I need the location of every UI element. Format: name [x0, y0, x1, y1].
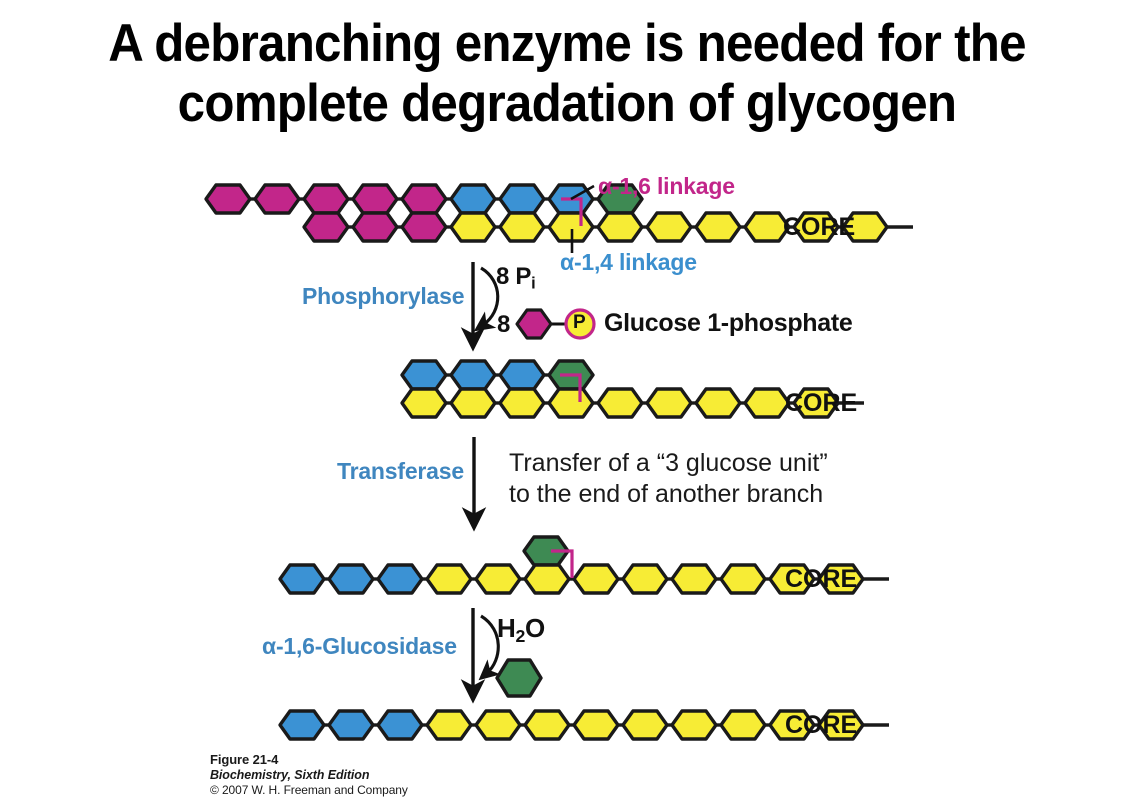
glucose-residue-yellow	[696, 213, 740, 241]
core-label-stage-3: CORE	[785, 565, 857, 594]
glucose-residue-yellow	[598, 213, 642, 241]
alpha-1-6-linkage-label: α-1,6 linkage	[598, 173, 735, 200]
alpha-1-4-linkage-label: α-1,4 linkage	[560, 249, 697, 276]
glucose-residue-yellow	[623, 711, 667, 739]
glucose-residue-magenta	[255, 185, 299, 213]
figure-copyright: © 2007 W. H. Freeman and Company	[210, 783, 408, 797]
slide-canvas: A debranching enzyme is needed for the c…	[0, 0, 1134, 800]
core-label-stage-1: CORE	[783, 213, 855, 242]
glucose-residue-yellow	[476, 711, 520, 739]
transferase-label: Transferase	[337, 458, 464, 485]
glucose-residue-yellow	[647, 213, 691, 241]
glucose-residue-yellow	[696, 389, 740, 417]
glucose-residue-blue	[378, 565, 422, 593]
glucose-residue-yellow	[500, 213, 544, 241]
glucose-residue-magenta	[304, 213, 348, 241]
figure-source: Biochemistry, Sixth Edition	[210, 768, 408, 782]
glucose-residue-blue	[500, 361, 544, 389]
glucose-residue-magenta	[206, 185, 250, 213]
glucose-residue-yellow	[476, 565, 520, 593]
transfer-description: Transfer of a “3 glucose unit” to the en…	[509, 448, 828, 509]
glycogen-degradation-diagram	[0, 0, 1134, 800]
figure-caption: Figure 21-4 Biochemistry, Sixth Edition …	[210, 752, 408, 797]
glucose-residue-yellow	[402, 389, 446, 417]
glucose-residue-yellow	[525, 711, 569, 739]
water-label: H2O	[497, 613, 545, 647]
water-subscript: 2	[515, 626, 525, 646]
glucose-residue-blue	[378, 711, 422, 739]
glucose-residue-blue	[329, 711, 373, 739]
pi-count: 8 P	[496, 263, 531, 290]
water-h: H	[497, 613, 515, 643]
glucose-residue-yellow	[721, 565, 765, 593]
phosphorylase-reaction-arrow	[473, 262, 498, 338]
glucose-residue-yellow	[451, 213, 495, 241]
glucose-residue-blue	[500, 185, 544, 213]
glucose-residue-yellow	[745, 389, 789, 417]
glucose-residue-yellow	[672, 711, 716, 739]
figure-number: Figure 21-4	[210, 752, 408, 767]
glucose-residue-yellow	[500, 389, 544, 417]
glucosidase-reaction-arrow	[473, 608, 498, 690]
glucose-residue-blue	[402, 361, 446, 389]
glucose-residue-blue	[451, 185, 495, 213]
glucose-residue-yellow	[549, 389, 593, 417]
g1p-hexagon	[517, 310, 551, 338]
glucose-residue-magenta	[402, 185, 446, 213]
glucose-residue-yellow	[427, 565, 471, 593]
glucose-residue-yellow	[427, 711, 471, 739]
core-label-stage-2: CORE	[785, 389, 857, 418]
glucose-residue-blue	[280, 565, 324, 593]
glucose-residue-yellow	[623, 565, 667, 593]
transfer-description-line-1: Transfer of a “3 glucose unit”	[509, 448, 828, 479]
phosphorylase-label: Phosphorylase	[302, 283, 464, 310]
phosphate-letter: P	[573, 312, 586, 334]
inorganic-phosphate-label: 8 Pi	[496, 263, 535, 294]
glucose-residue-yellow	[598, 389, 642, 417]
pi-subscript: i	[531, 275, 535, 293]
glucose-residue-yellow	[574, 711, 618, 739]
glucose-1-phosphate-count: 8	[497, 311, 510, 339]
glucosidase-label: α-1,6-Glucosidase	[262, 633, 457, 660]
glucose-residue-magenta	[402, 213, 446, 241]
water-o: O	[525, 613, 545, 643]
glucose-1-phosphate-label: Glucose 1-phosphate	[604, 309, 853, 338]
glucose-residue-blue	[280, 711, 324, 739]
glucose-residue-yellow	[525, 565, 569, 593]
glucose-residue-magenta	[353, 213, 397, 241]
glucose-residue-blue	[451, 361, 495, 389]
glucose-residue-magenta	[353, 185, 397, 213]
transfer-description-line-2: to the end of another branch	[509, 479, 828, 510]
free-glucose-hexagon	[497, 660, 541, 696]
glucose-residue-yellow	[451, 389, 495, 417]
glucose-residue-blue	[329, 565, 373, 593]
core-label-stage-4: CORE	[785, 711, 857, 740]
glucose-residue-yellow	[647, 389, 691, 417]
glucose-residue-magenta	[304, 185, 348, 213]
glucose-residue-yellow	[574, 565, 618, 593]
glucose-residue-yellow	[672, 565, 716, 593]
glucose-residue-yellow	[721, 711, 765, 739]
